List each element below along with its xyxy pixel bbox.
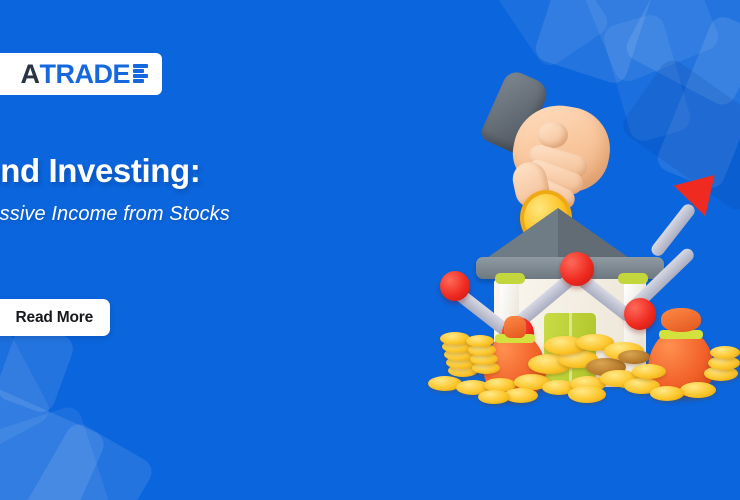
column-capital-left <box>495 273 525 284</box>
coin-31 <box>618 350 650 364</box>
page-subtitle: eate Passive Income from Stocks <box>0 203 370 226</box>
bank-roof-shadow <box>558 208 632 260</box>
coin-29 <box>650 386 684 401</box>
coin-pile <box>418 320 740 410</box>
read-more-label: Read More <box>16 309 93 327</box>
coin-9 <box>466 335 494 347</box>
brand-logo[interactable]: A TRADE <box>0 53 162 95</box>
bars-e-icon <box>133 64 148 84</box>
logo-text-blue: TRADE <box>40 59 131 90</box>
coin-27 <box>710 346 740 359</box>
coin-24 <box>568 386 606 403</box>
chart-node-3 <box>560 252 594 286</box>
decor-square-bl-4 <box>0 327 54 453</box>
hero-illustration <box>418 70 740 400</box>
promo-banner: A TRADE ividend Investing: eate Passive … <box>0 0 740 500</box>
read-more-button[interactable]: Read More <box>0 299 110 336</box>
page-title: ividend Investing: <box>0 152 347 190</box>
logo-wordmark: A TRADE <box>21 59 149 90</box>
logo-text-dark: A <box>21 59 40 90</box>
coin-33 <box>478 390 510 404</box>
chart-node-1 <box>440 271 470 301</box>
coin-32 <box>632 364 666 379</box>
decor-square-tr-4 <box>487 0 612 70</box>
decor-square-bl-1 <box>0 377 108 500</box>
decor-square-bl-2 <box>0 404 127 500</box>
decor-square-bl-3 <box>14 419 156 500</box>
column-capital-right <box>618 273 648 284</box>
coin-28 <box>680 382 716 398</box>
